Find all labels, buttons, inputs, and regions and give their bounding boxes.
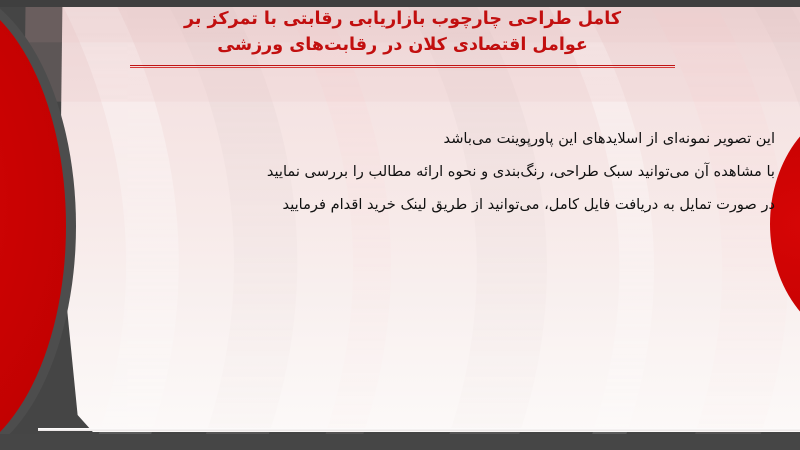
slide-frame-bottom bbox=[0, 434, 800, 450]
panel-bottom-highlight bbox=[38, 428, 800, 431]
slide-title: کامل طراحی چارچوب بازاریابی رقابتی با تم… bbox=[120, 6, 685, 68]
slide-body-line-2: با مشاهده آن می‌توانید سبک طراحی، رنگ‌بن… bbox=[120, 155, 775, 188]
slide-body-text: این تصویر نمونه‌ای از اسلایدهای این پاور… bbox=[120, 122, 775, 221]
slide-title-line-1: کامل طراحی چارچوب بازاریابی رقابتی با تم… bbox=[120, 6, 685, 32]
title-underline bbox=[130, 65, 675, 68]
slide-body-line-3: در صورت تمایل به دریافت فایل کامل، می‌تو… bbox=[120, 188, 775, 221]
slide-body-line-1: این تصویر نمونه‌ای از اسلایدهای این پاور… bbox=[120, 122, 775, 155]
presentation-slide: کامل طراحی چارچوب بازاریابی رقابتی با تم… bbox=[0, 0, 800, 450]
red-ellipse-left bbox=[0, 0, 66, 450]
slide-title-line-2: عوامل اقتصادی کلان در رقابت‌های ورزشی bbox=[120, 32, 685, 58]
